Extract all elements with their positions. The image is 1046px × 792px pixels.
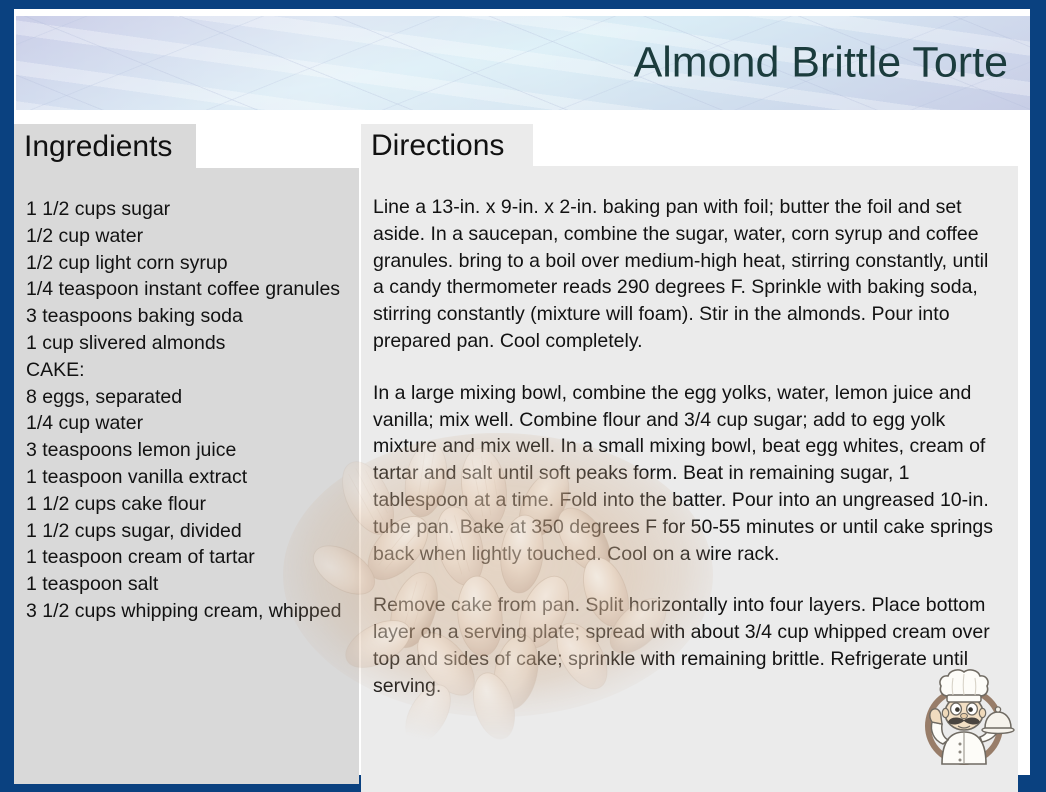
ingredient-item: 1/4 cup water: [26, 410, 345, 437]
ingredients-list: 1 1/2 cups sugar1/2 cup water1/2 cup lig…: [26, 196, 345, 625]
ingredient-item: 8 eggs, separated: [26, 384, 345, 411]
ingredient-item: 3 1/2 cups whipping cream, whipped: [26, 598, 345, 625]
ingredient-item: 1 cup slivered almonds: [26, 330, 345, 357]
ingredient-item: 1 1/2 cups sugar, divided: [26, 518, 345, 545]
ingredient-item: 3 teaspoons baking soda: [26, 303, 345, 330]
ingredient-item: 1 1/2 cups sugar: [26, 196, 345, 223]
ingredient-item: CAKE:: [26, 357, 345, 384]
ingredient-item: 1 1/2 cups cake flour: [26, 491, 345, 518]
direction-paragraph: In a large mixing bowl, combine the egg …: [373, 380, 1004, 568]
ingredients-heading: Ingredients: [24, 130, 172, 163]
directions-heading: Directions: [371, 129, 504, 162]
chef-mascot-art: [906, 664, 1018, 768]
title-banner: Almond Brittle Torte: [16, 16, 1030, 110]
recipe-slide: Almond Brittle Torte: [0, 0, 1046, 792]
ingredient-item: 1 teaspoon salt: [26, 571, 345, 598]
ingredient-item: 3 teaspoons lemon juice: [26, 437, 345, 464]
frame-border-left: [0, 0, 14, 792]
ingredient-item: 1/2 cup light corn syrup: [26, 250, 345, 277]
frame-border-right: [1030, 0, 1046, 792]
chef-mascot-logo: [906, 664, 1018, 768]
ingredient-item: 1 teaspoon cream of tartar: [26, 544, 345, 571]
ingredient-item: 1/4 teaspoon instant coffee granules: [26, 276, 345, 303]
ingredient-item: 1/2 cup water: [26, 223, 345, 250]
ingredients-tab: Ingredients: [14, 124, 196, 170]
frame-border-top: [0, 0, 1046, 9]
directions-tab: Directions: [361, 124, 533, 168]
directions-text: Line a 13-in. x 9-in. x 2-in. baking pan…: [373, 194, 1004, 700]
direction-paragraph: Line a 13-in. x 9-in. x 2-in. baking pan…: [373, 194, 1004, 355]
ingredient-item: 1 teaspoon vanilla extract: [26, 464, 345, 491]
ingredients-panel: 1 1/2 cups sugar1/2 cup water1/2 cup lig…: [14, 168, 359, 784]
page-title: Almond Brittle Torte: [634, 40, 1008, 85]
